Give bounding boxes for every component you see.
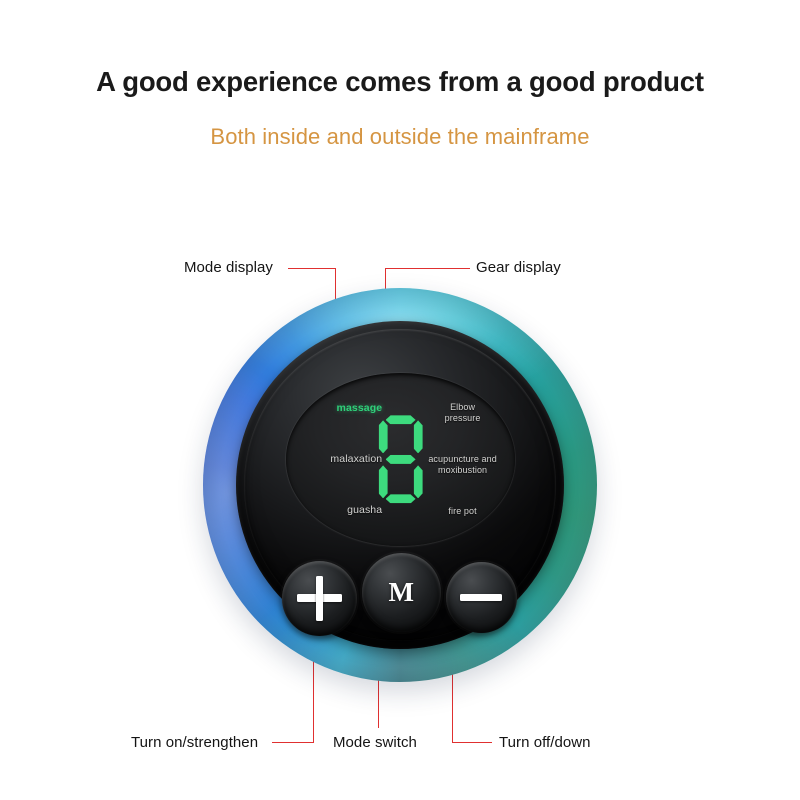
infographic-canvas: A good experience comes from a good prod…	[0, 0, 800, 800]
leader-line-minus-horizontal	[452, 742, 492, 743]
segment-a	[386, 415, 416, 424]
callout-turn-on-strengthen: Turn on/strengthen	[131, 734, 258, 751]
mode-item-elbow-pressure[interactable]: Elbow pressure	[414, 402, 510, 423]
leader-line-mode-display-horizontal	[288, 268, 335, 269]
page-title: A good experience comes from a good prod…	[0, 66, 800, 98]
segment-f	[379, 420, 388, 453]
mode-button[interactable]: M	[362, 553, 441, 632]
plus-button[interactable]	[282, 561, 357, 636]
mode-list-right: Elbow pressure acupuncture and moxibusti…	[414, 402, 510, 516]
segment-d	[386, 494, 416, 503]
leader-line-plus-horizontal	[272, 742, 314, 743]
segment-g	[386, 455, 416, 464]
minus-icon	[460, 576, 503, 619]
callout-turn-off-down: Turn off/down	[499, 734, 591, 751]
callout-mode-switch: Mode switch	[333, 734, 417, 751]
mode-item-malaxation[interactable]: malaxation	[330, 453, 382, 465]
mode-item-guasha[interactable]: guasha	[347, 504, 382, 516]
mode-list-left: massage malaxation guasha	[290, 402, 382, 516]
leader-line-gear-display-horizontal	[385, 268, 470, 269]
mode-item-fire-pot[interactable]: fire pot	[414, 506, 510, 516]
mode-item-massage[interactable]: massage	[337, 402, 383, 414]
callout-gear-display: Gear display	[476, 259, 561, 276]
callout-mode-display: Mode display	[184, 259, 273, 276]
mode-item-acupuncture-moxibustion[interactable]: acupuncture and moxibustion	[414, 454, 510, 475]
page-subtitle: Both inside and outside the mainframe	[0, 124, 800, 150]
plus-icon	[297, 576, 342, 621]
mode-button-label: M	[388, 579, 413, 606]
led-display-panel: massage malaxation guasha Elbow pressure…	[286, 373, 516, 546]
minus-button[interactable]	[446, 562, 517, 633]
segment-e	[379, 465, 388, 498]
massager-device: massage malaxation guasha Elbow pressure…	[203, 288, 597, 682]
